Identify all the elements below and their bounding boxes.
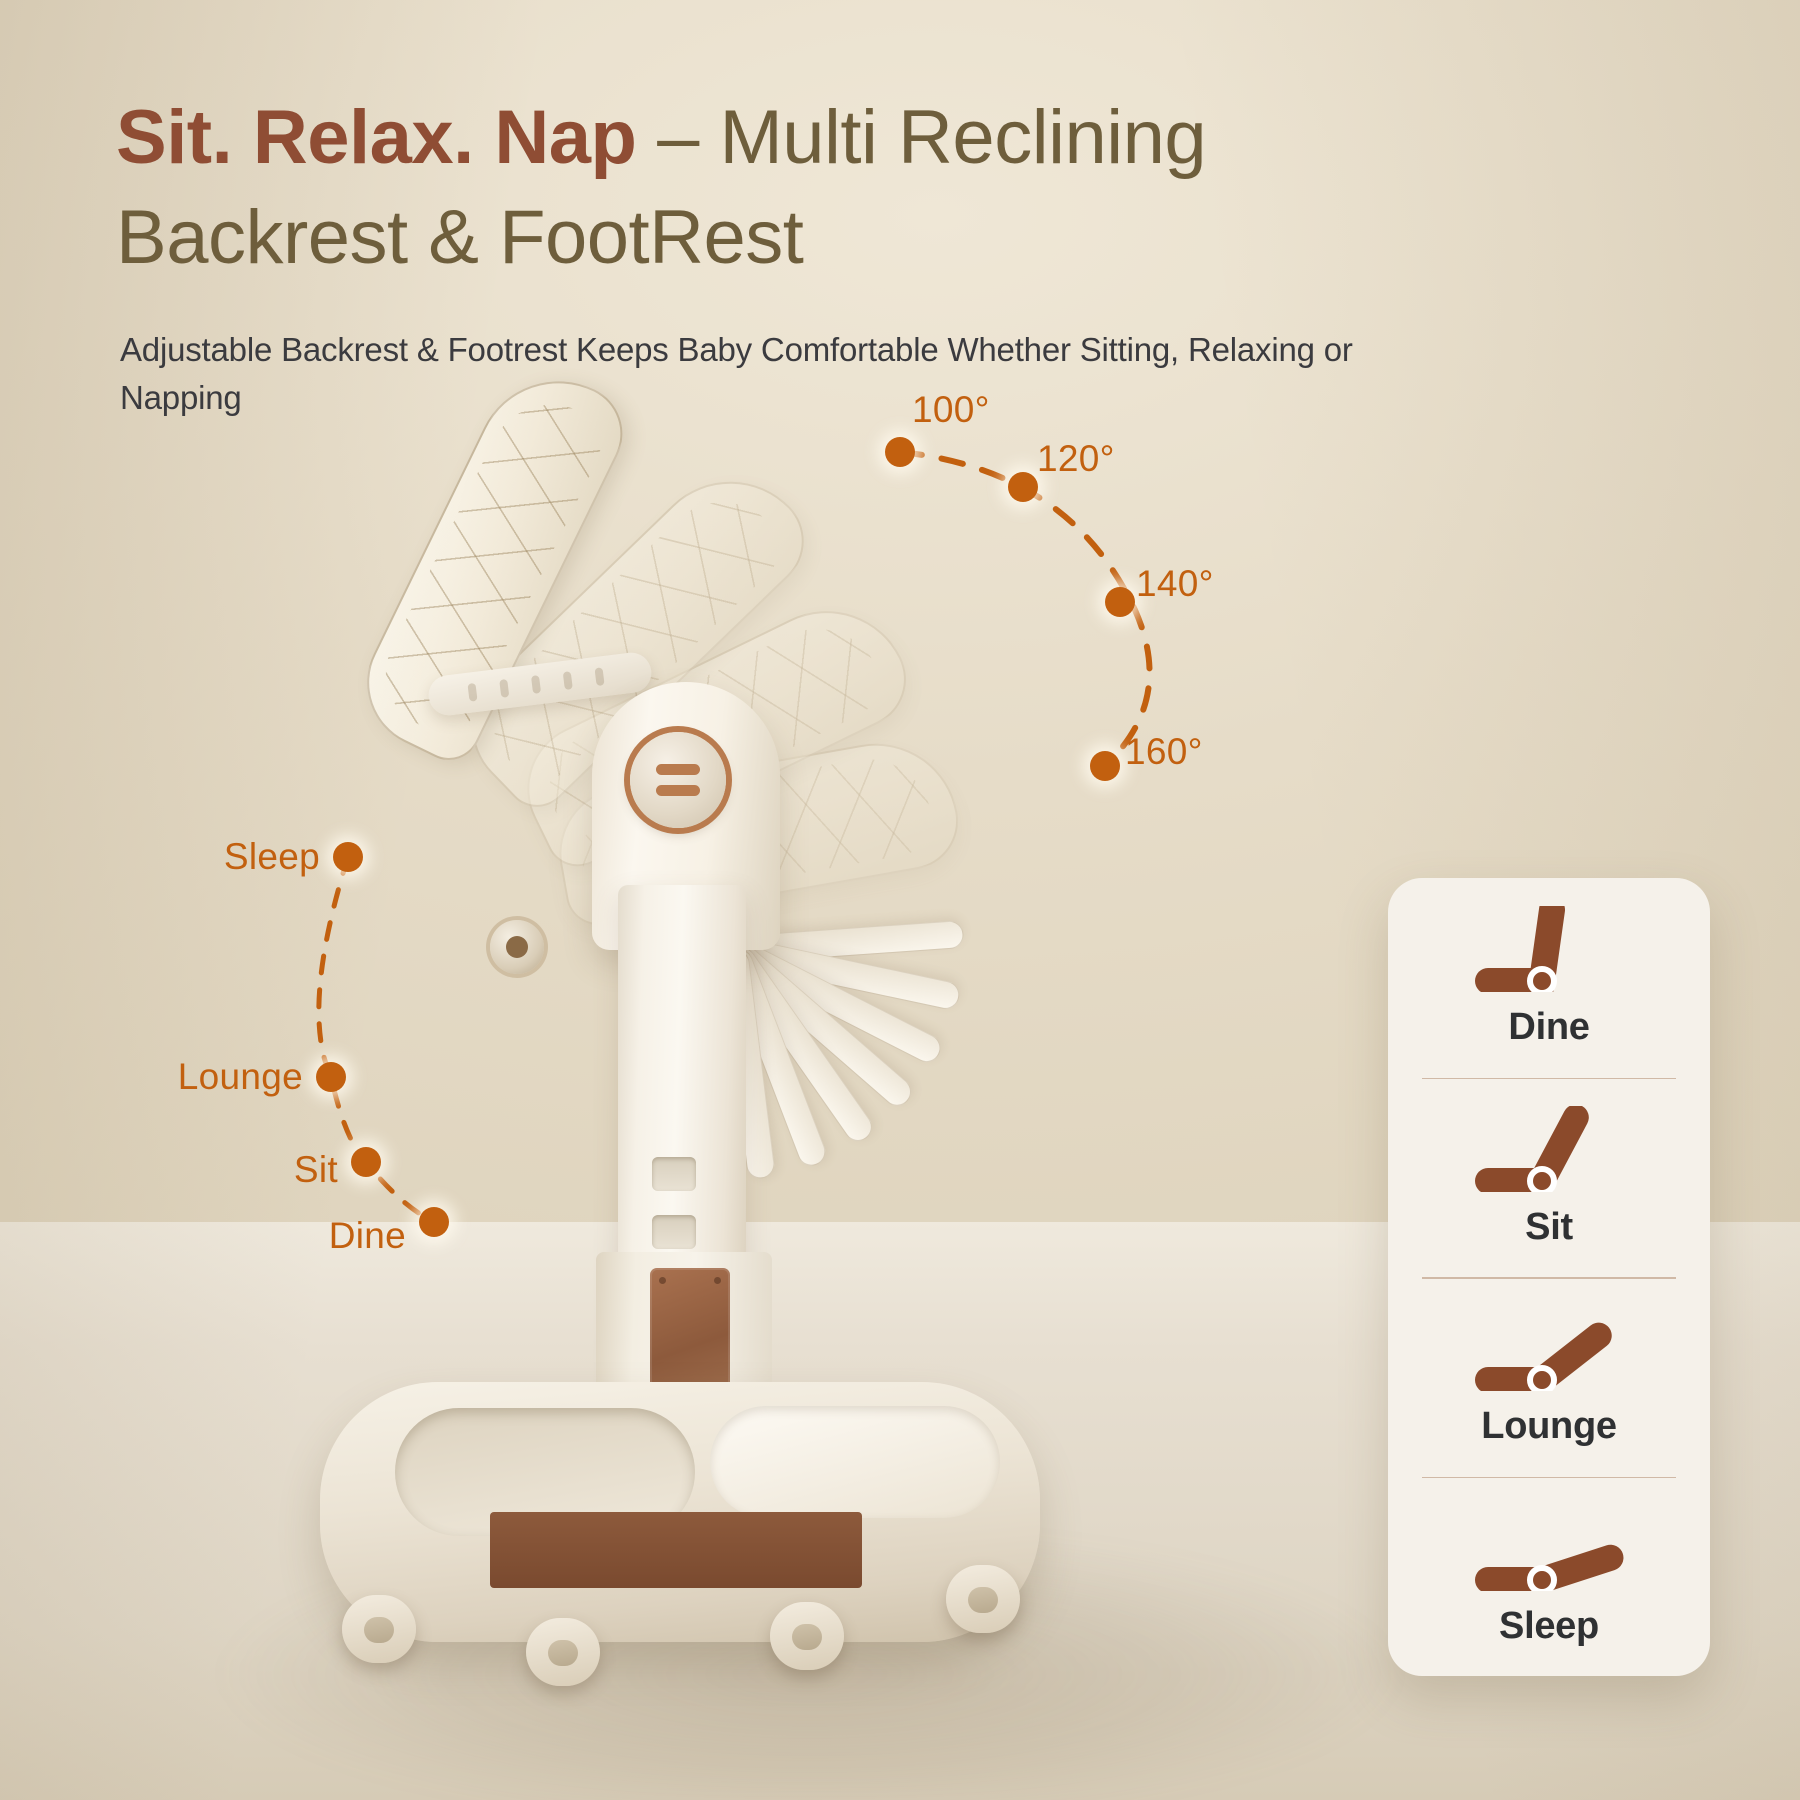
baby-high-chair-product: [300, 640, 1080, 1800]
headline-accent: Sit. Relax. Nap: [116, 95, 636, 180]
caster-wheel: [342, 1595, 416, 1663]
footrest-pivot-hinge: [490, 920, 544, 974]
seat-sit-icon: [1474, 1106, 1624, 1192]
caster-wheel: [770, 1602, 844, 1670]
page-title: Sit. Relax. Nap – Multi Reclining Backre…: [116, 88, 1516, 289]
recline-position-row[interactable]: Sleep: [1388, 1477, 1710, 1677]
base-tray-right: [710, 1406, 1000, 1518]
seat-upright-icon: [1474, 906, 1624, 992]
recline-position-row[interactable]: Dine: [1388, 878, 1710, 1078]
recline-position-row[interactable]: Lounge: [1388, 1277, 1710, 1477]
base-accent-band: [490, 1512, 862, 1588]
recline-position-label: Dine: [1508, 1006, 1589, 1049]
recline-position-label: Lounge: [1481, 1405, 1616, 1448]
recline-position-row[interactable]: Sit: [1388, 1078, 1710, 1278]
recline-position-label: Sit: [1525, 1206, 1573, 1249]
seat-flat-icon: [1474, 1505, 1624, 1591]
footrest-fan: [262, 808, 592, 1108]
caster-wheel: [946, 1565, 1020, 1633]
recline-adjust-knob[interactable]: [630, 732, 726, 828]
recline-position-label: Sleep: [1499, 1605, 1599, 1648]
seat-lounge-icon: [1474, 1305, 1624, 1391]
caster-wheel: [526, 1618, 600, 1686]
recline-positions-card: DineSitLoungeSleep: [1388, 878, 1710, 1676]
page-subtitle: Adjustable Backrest & Footrest Keeps Bab…: [120, 326, 1380, 422]
